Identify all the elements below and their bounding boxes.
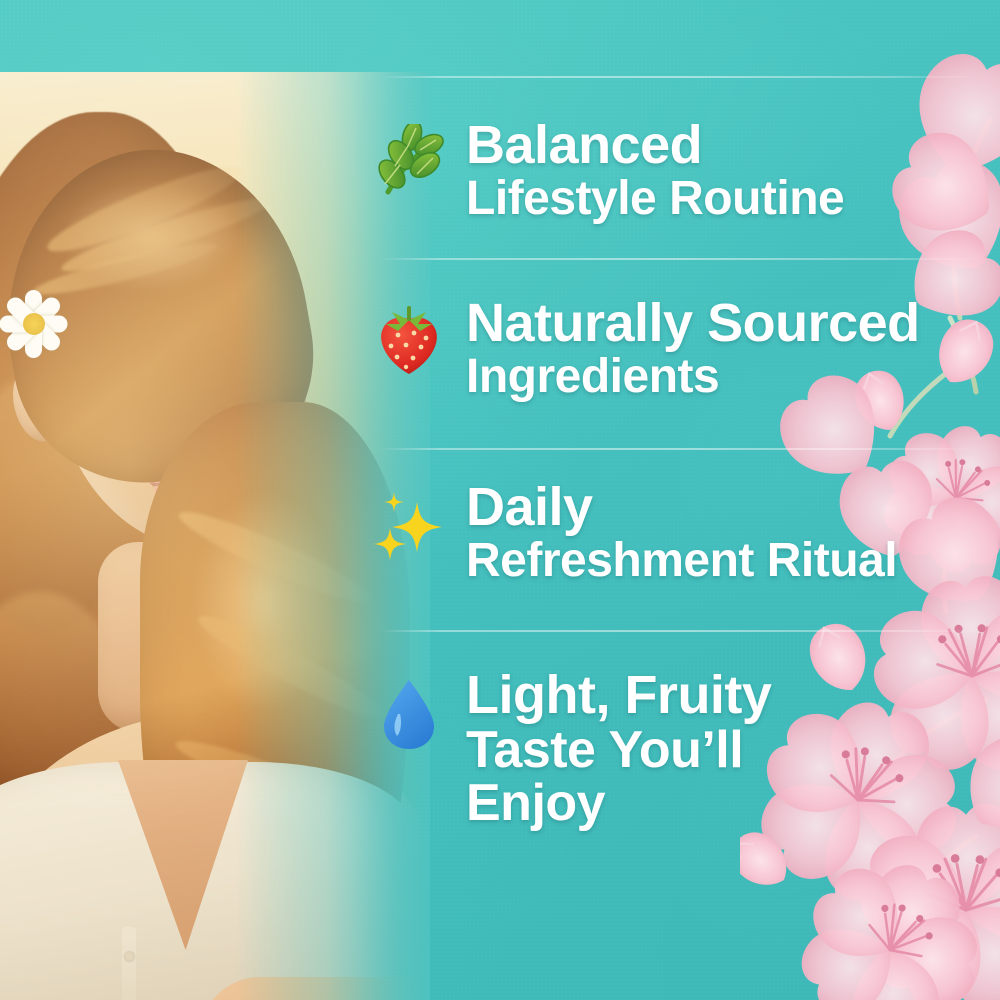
photo-subject-woman — [0, 72, 430, 1000]
feature-4-line-1: Light, Fruity — [466, 668, 771, 724]
daisy-flower-in-hair — [0, 288, 70, 360]
feature-text-2: Naturally Sourced Ingredients — [466, 296, 920, 401]
infographic-canvas: Balanced Lifestyle Routine — [0, 0, 1000, 1000]
divider-top — [380, 76, 980, 78]
feature-text-1: Balanced Lifestyle Routine — [466, 118, 844, 223]
feature-1-line-2: Lifestyle Routine — [466, 174, 844, 223]
feature-item-4[interactable]: Light, Fruity Taste You’ll Enjoy — [370, 668, 771, 831]
feature-list: Balanced Lifestyle Routine — [370, 0, 1000, 1000]
feature-item-2[interactable]: Naturally Sourced Ingredients — [370, 296, 920, 401]
feature-text-4: Light, Fruity Taste You’ll Enjoy — [466, 668, 771, 831]
divider-3 — [380, 630, 980, 632]
feature-item-3[interactable]: Daily Refreshment Ritual — [370, 480, 897, 585]
feature-2-line-2: Ingredients — [466, 352, 920, 401]
water-droplet-icon — [370, 668, 448, 752]
feature-4-line-3: Enjoy — [466, 777, 771, 831]
feature-1-line-1: Balanced — [466, 118, 844, 174]
feature-text-3: Daily Refreshment Ritual — [466, 480, 897, 585]
herb-leaf-icon — [370, 118, 448, 202]
strawberry-icon — [370, 296, 448, 380]
lifestyle-photo — [0, 72, 430, 1000]
blouse-button-placket — [122, 927, 136, 1000]
divider-2 — [380, 448, 980, 450]
feature-2-line-1: Naturally Sourced — [466, 296, 920, 352]
feature-3-line-1: Daily — [466, 480, 897, 536]
feature-3-line-2: Refreshment Ritual — [466, 536, 897, 585]
feature-4-line-2: Taste You’ll — [466, 724, 771, 778]
divider-1 — [380, 258, 980, 260]
feature-item-1[interactable]: Balanced Lifestyle Routine — [370, 118, 844, 223]
sparkles-icon — [370, 480, 448, 564]
